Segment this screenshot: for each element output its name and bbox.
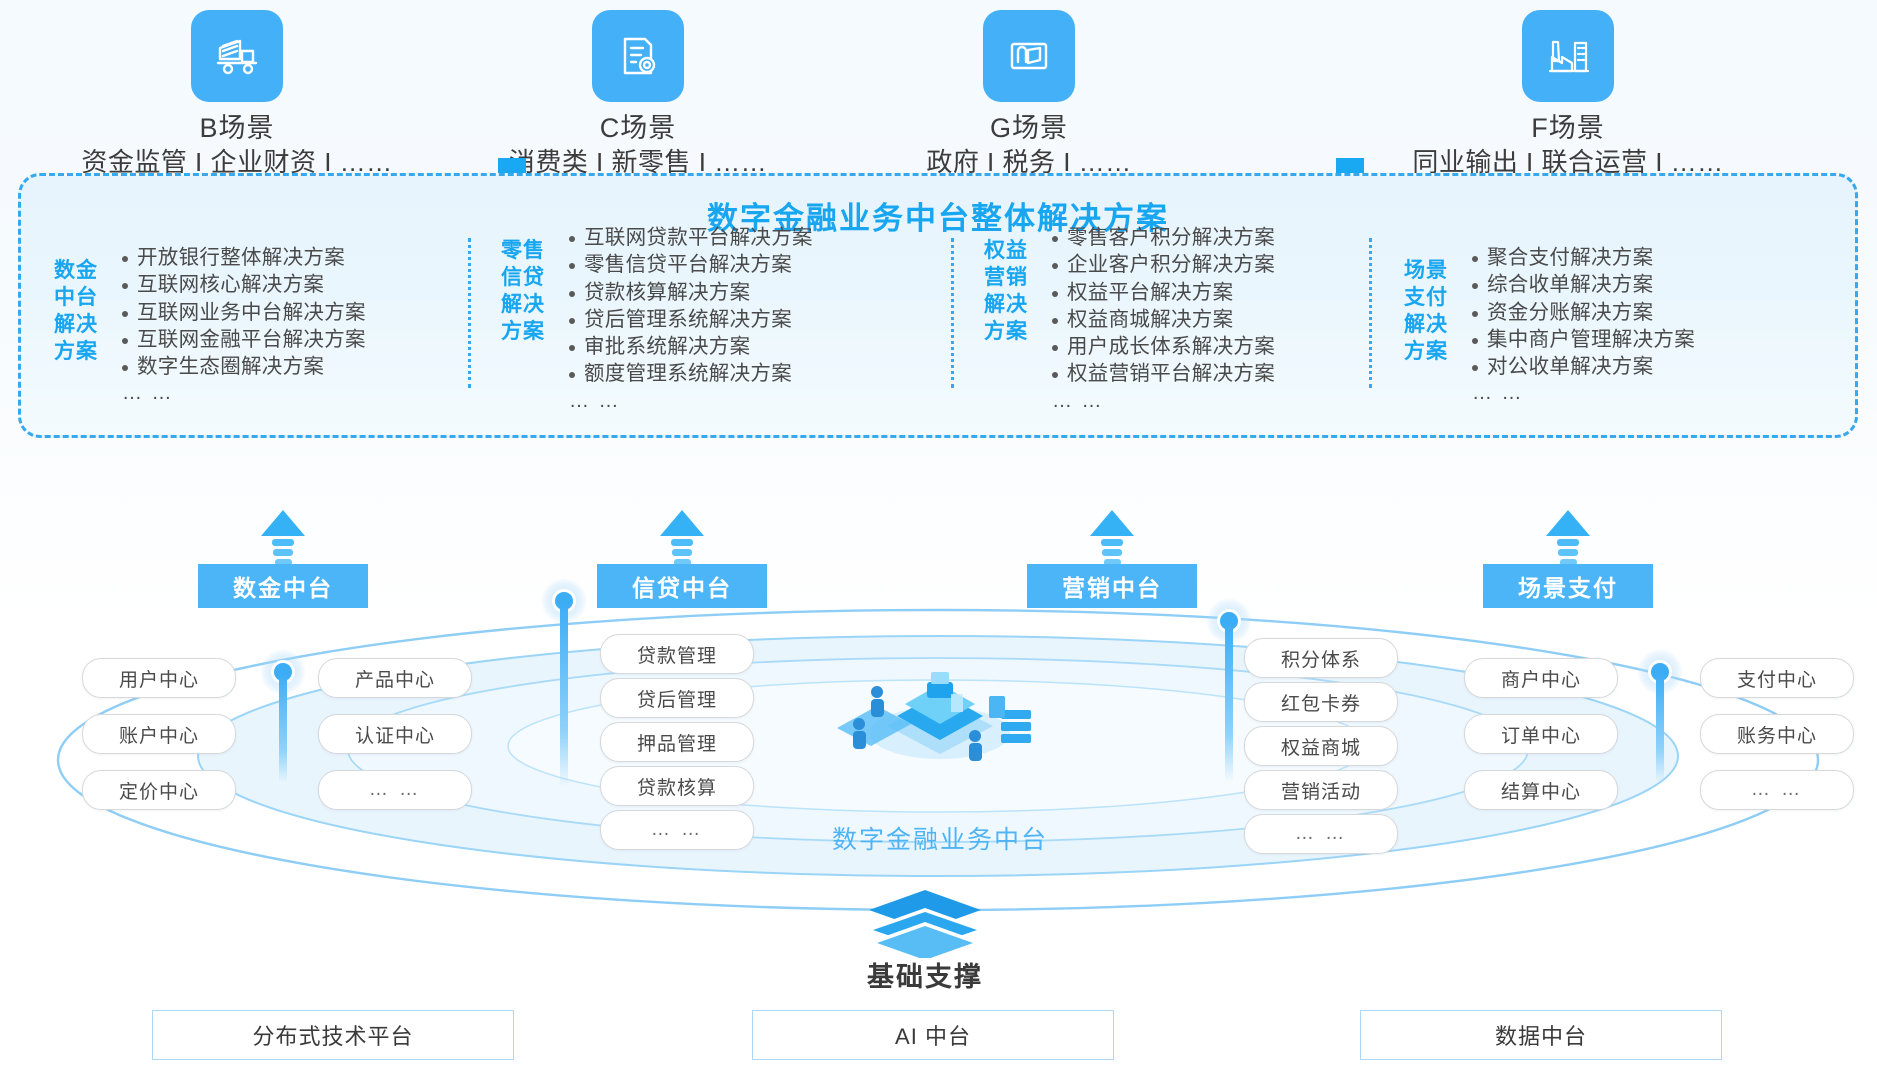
solution-panel: 数字金融业务中台整体解决方案 数金中台解决方案 开放银行整体解决方案 互联网核心…: [18, 173, 1858, 438]
capability-chip-more[interactable]: … …: [318, 770, 472, 810]
center-caption: 数字金融业务中台: [800, 820, 1080, 856]
capability-chip[interactable]: 支付中心: [1700, 658, 1854, 698]
column-list: 互联网贷款平台解决方案 零售信贷平台解决方案 贷款核算解决方案 贷后管理系统解决…: [565, 224, 813, 414]
foundation-box-data[interactable]: 数据中台: [1360, 1010, 1722, 1060]
capability-chip[interactable]: 权益商城: [1244, 726, 1398, 766]
capability-chip[interactable]: 押品管理: [600, 722, 754, 762]
layers-stack-icon: [855, 888, 995, 958]
list-item: 对公收单解决方案: [1468, 353, 1695, 380]
capability-chip[interactable]: 贷后管理: [600, 678, 754, 718]
list-item: 综合收单解决方案: [1468, 271, 1695, 298]
column-list: 开放银行整体解决方案 互联网核心解决方案 互联网业务中台解决方案 互联网金融平台…: [118, 244, 366, 407]
column-divider: [951, 238, 954, 388]
arrow-up-xindai: [660, 510, 704, 566]
arrow-up-shujin: [261, 510, 305, 566]
list-item: 权益平台解决方案: [1048, 279, 1275, 306]
scene-c: C场景 消费类 I 新零售 I ……: [473, 10, 803, 180]
diagram-canvas: B场景 资金监管 I 企业财资 I …… C场景 消费类 I 新零售 I …… …: [0, 0, 1877, 1070]
platform-bar-yingxiao[interactable]: 营销中台: [1027, 564, 1197, 608]
list-item: 数字生态圈解决方案: [118, 353, 366, 380]
list-item: 额度管理系统解决方案: [565, 360, 813, 387]
column-list: 零售客户积分解决方案 企业客户积分解决方案 权益平台解决方案 权益商城解决方案 …: [1048, 224, 1275, 414]
isometric-data-center-illustration: [815, 648, 1065, 778]
capability-chip[interactable]: 贷款核算: [600, 766, 754, 806]
list-item: 贷后管理系统解决方案: [565, 306, 813, 333]
scene-f: F场景 同业输出 I 联合运营 I ……: [1403, 10, 1733, 180]
list-item: 审批系统解决方案: [565, 333, 813, 360]
scene-g: G场景 政府 I 税务 I ……: [864, 10, 1194, 180]
solution-column-quanyi-yingxiao: 权益营销解决方案 零售客户积分解决方案 企业客户积分解决方案 权益平台解决方案 …: [976, 224, 1275, 414]
column-more: … …: [1468, 380, 1695, 407]
list-item: 零售客户积分解决方案: [1048, 224, 1275, 251]
capability-chip-more[interactable]: … …: [1700, 770, 1854, 810]
list-item: 互联网贷款平台解决方案: [565, 224, 813, 251]
column-more: … …: [1048, 388, 1275, 415]
capability-chip[interactable]: 积分体系: [1244, 638, 1398, 678]
platform-bar-zhifu[interactable]: 场景支付: [1483, 564, 1653, 608]
list-item: 资金分账解决方案: [1468, 299, 1695, 326]
solution-column-changjing-zhifu: 场景支付解决方案 聚合支付解决方案 综合收单解决方案 资金分账解决方案 集中商户…: [1396, 244, 1695, 407]
column-label: 零售信贷解决方案: [493, 224, 553, 346]
list-item: 零售信贷平台解决方案: [565, 251, 813, 278]
scene-title: F场景: [1403, 112, 1733, 146]
capability-chip[interactable]: 结算中心: [1464, 770, 1618, 810]
factory-icon: [1522, 10, 1614, 102]
scene-title: G场景: [864, 112, 1194, 146]
foundation-box-ai[interactable]: AI 中台: [752, 1010, 1114, 1060]
capability-chip[interactable]: 定价中心: [82, 770, 236, 810]
solution-column-lingshou-xindai: 零售信贷解决方案 互联网贷款平台解决方案 零售信贷平台解决方案 贷款核算解决方案…: [493, 224, 813, 414]
capability-chip[interactable]: 红包卡券: [1244, 682, 1398, 722]
map-flag-icon: [983, 10, 1075, 102]
list-item: 集中商户管理解决方案: [1468, 326, 1695, 353]
list-item: 互联网核心解决方案: [118, 271, 366, 298]
scene-title: C场景: [473, 112, 803, 146]
capability-chip[interactable]: 贷款管理: [600, 634, 754, 674]
platform-bar-shujin[interactable]: 数金中台: [198, 564, 368, 608]
column-list: 聚合支付解决方案 综合收单解决方案 资金分账解决方案 集中商户管理解决方案 对公…: [1468, 244, 1695, 407]
column-more: … …: [118, 380, 366, 407]
column-more: … …: [565, 388, 813, 415]
column-label: 场景支付解决方案: [1396, 244, 1456, 366]
capability-chip[interactable]: 商户中心: [1464, 658, 1618, 698]
foundation-box-distributed[interactable]: 分布式技术平台: [152, 1010, 514, 1060]
scene-title: B场景: [72, 112, 402, 146]
list-item: 开放银行整体解决方案: [118, 244, 366, 271]
platform-bar-xindai[interactable]: 信贷中台: [597, 564, 767, 608]
list-item: 权益营销平台解决方案: [1048, 360, 1275, 387]
truck-cargo-icon: [191, 10, 283, 102]
capability-chip[interactable]: 订单中心: [1464, 714, 1618, 754]
capability-chip[interactable]: 产品中心: [318, 658, 472, 698]
document-check-icon: [592, 10, 684, 102]
column-divider: [468, 238, 471, 388]
list-item: 用户成长体系解决方案: [1048, 333, 1275, 360]
arrow-up-zhifu: [1546, 510, 1590, 566]
column-label: 权益营销解决方案: [976, 224, 1036, 346]
foundation-title: 基础支撑: [820, 955, 1030, 994]
capability-chip-more[interactable]: … …: [600, 810, 754, 850]
capability-chip[interactable]: 用户中心: [82, 658, 236, 698]
scene-b: B场景 资金监管 I 企业财资 I ……: [72, 10, 402, 180]
list-item: 贷款核算解决方案: [565, 279, 813, 306]
solution-column-shujin: 数金中台解决方案 开放银行整体解决方案 互联网核心解决方案 互联网业务中台解决方…: [46, 244, 366, 407]
list-item: 权益商城解决方案: [1048, 306, 1275, 333]
column-label: 数金中台解决方案: [46, 244, 106, 366]
panel-title: 数字金融业务中台整体解决方案: [21, 193, 1855, 238]
list-item: 聚合支付解决方案: [1468, 244, 1695, 271]
list-item: 互联网金融平台解决方案: [118, 326, 366, 353]
capability-chip[interactable]: 营销活动: [1244, 770, 1398, 810]
list-item: 互联网业务中台解决方案: [118, 299, 366, 326]
list-item: 企业客户积分解决方案: [1048, 251, 1275, 278]
capability-chip[interactable]: 认证中心: [318, 714, 472, 754]
capability-chip-more[interactable]: … …: [1244, 814, 1398, 854]
capability-chip[interactable]: 账户中心: [82, 714, 236, 754]
column-divider: [1369, 238, 1372, 388]
arrow-up-yingxiao: [1090, 510, 1134, 566]
capability-chip[interactable]: 账务中心: [1700, 714, 1854, 754]
